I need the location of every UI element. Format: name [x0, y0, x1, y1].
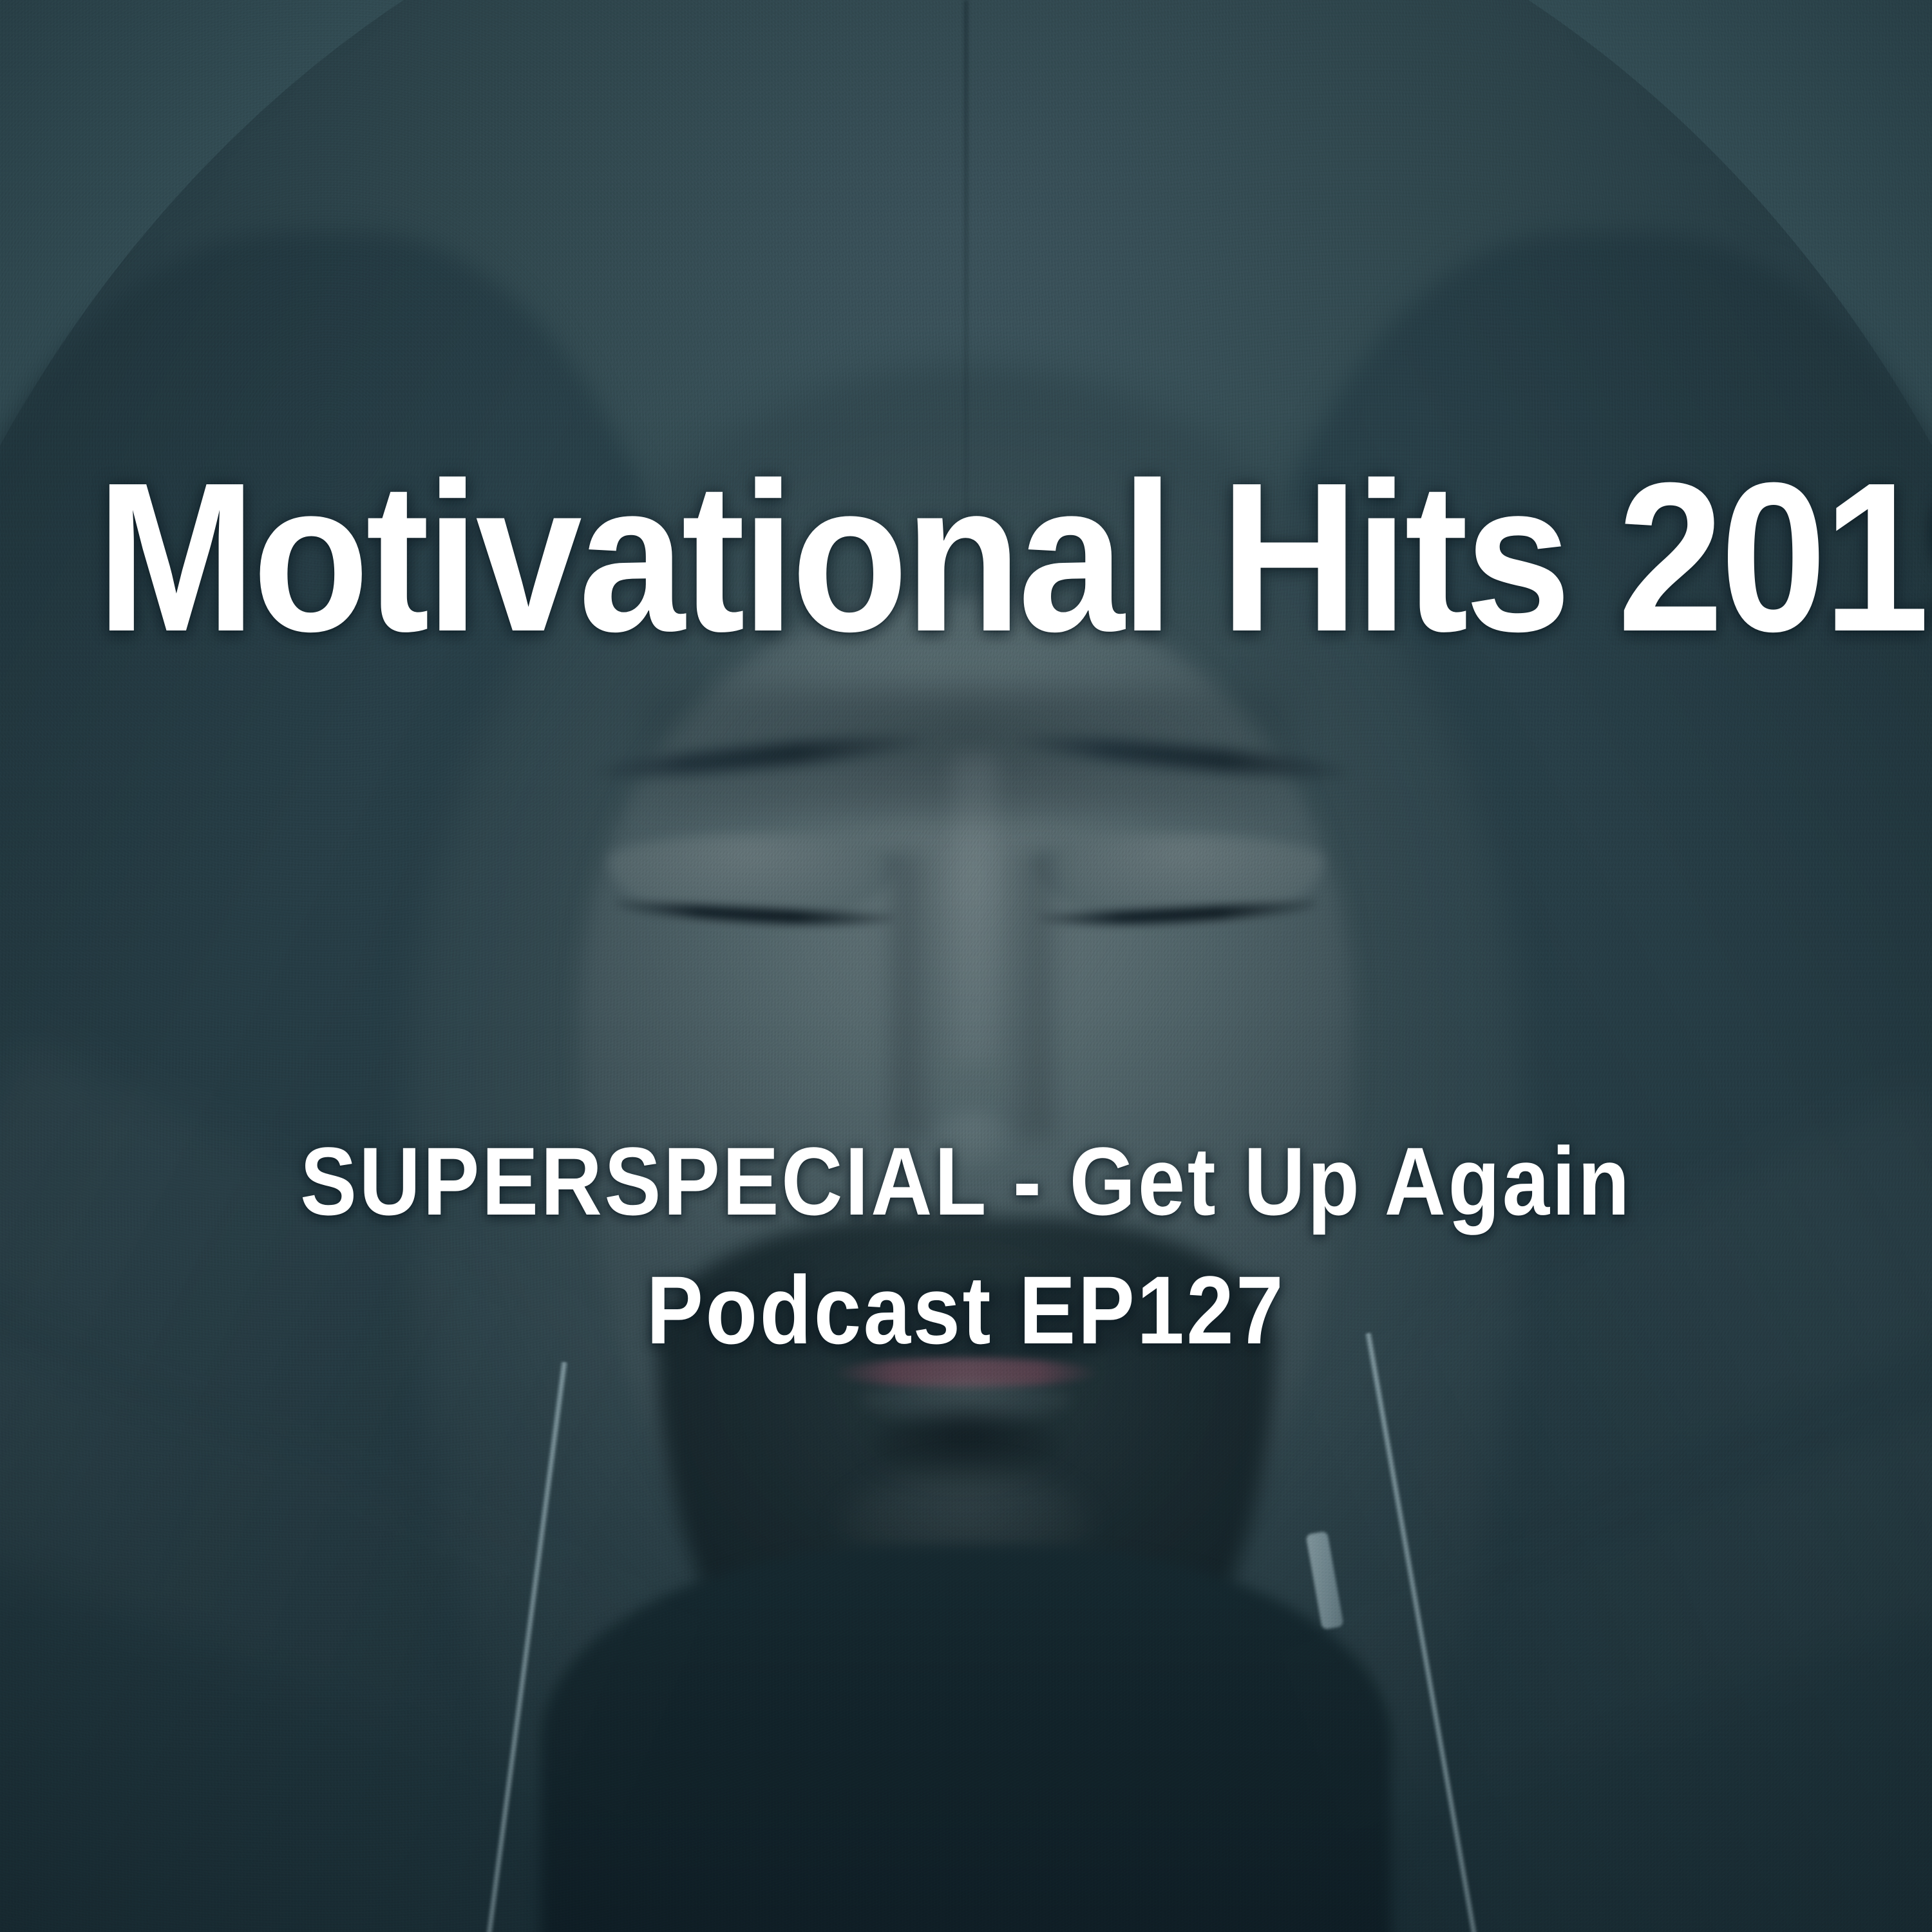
cover-subtitle-line-2: Podcast EP127	[116, 1246, 1816, 1375]
cover-subtitle-line-1: SUPERSPECIAL - Get Up Again	[116, 1117, 1816, 1246]
podcast-cover-art: Motivational Hits 2019 SUPERSPECIAL - Ge…	[0, 0, 1932, 1932]
vignette	[0, 0, 1932, 1932]
cover-title: Motivational Hits 2019	[97, 451, 1835, 663]
cover-subtitle: SUPERSPECIAL - Get Up Again Podcast EP12…	[116, 1117, 1816, 1374]
